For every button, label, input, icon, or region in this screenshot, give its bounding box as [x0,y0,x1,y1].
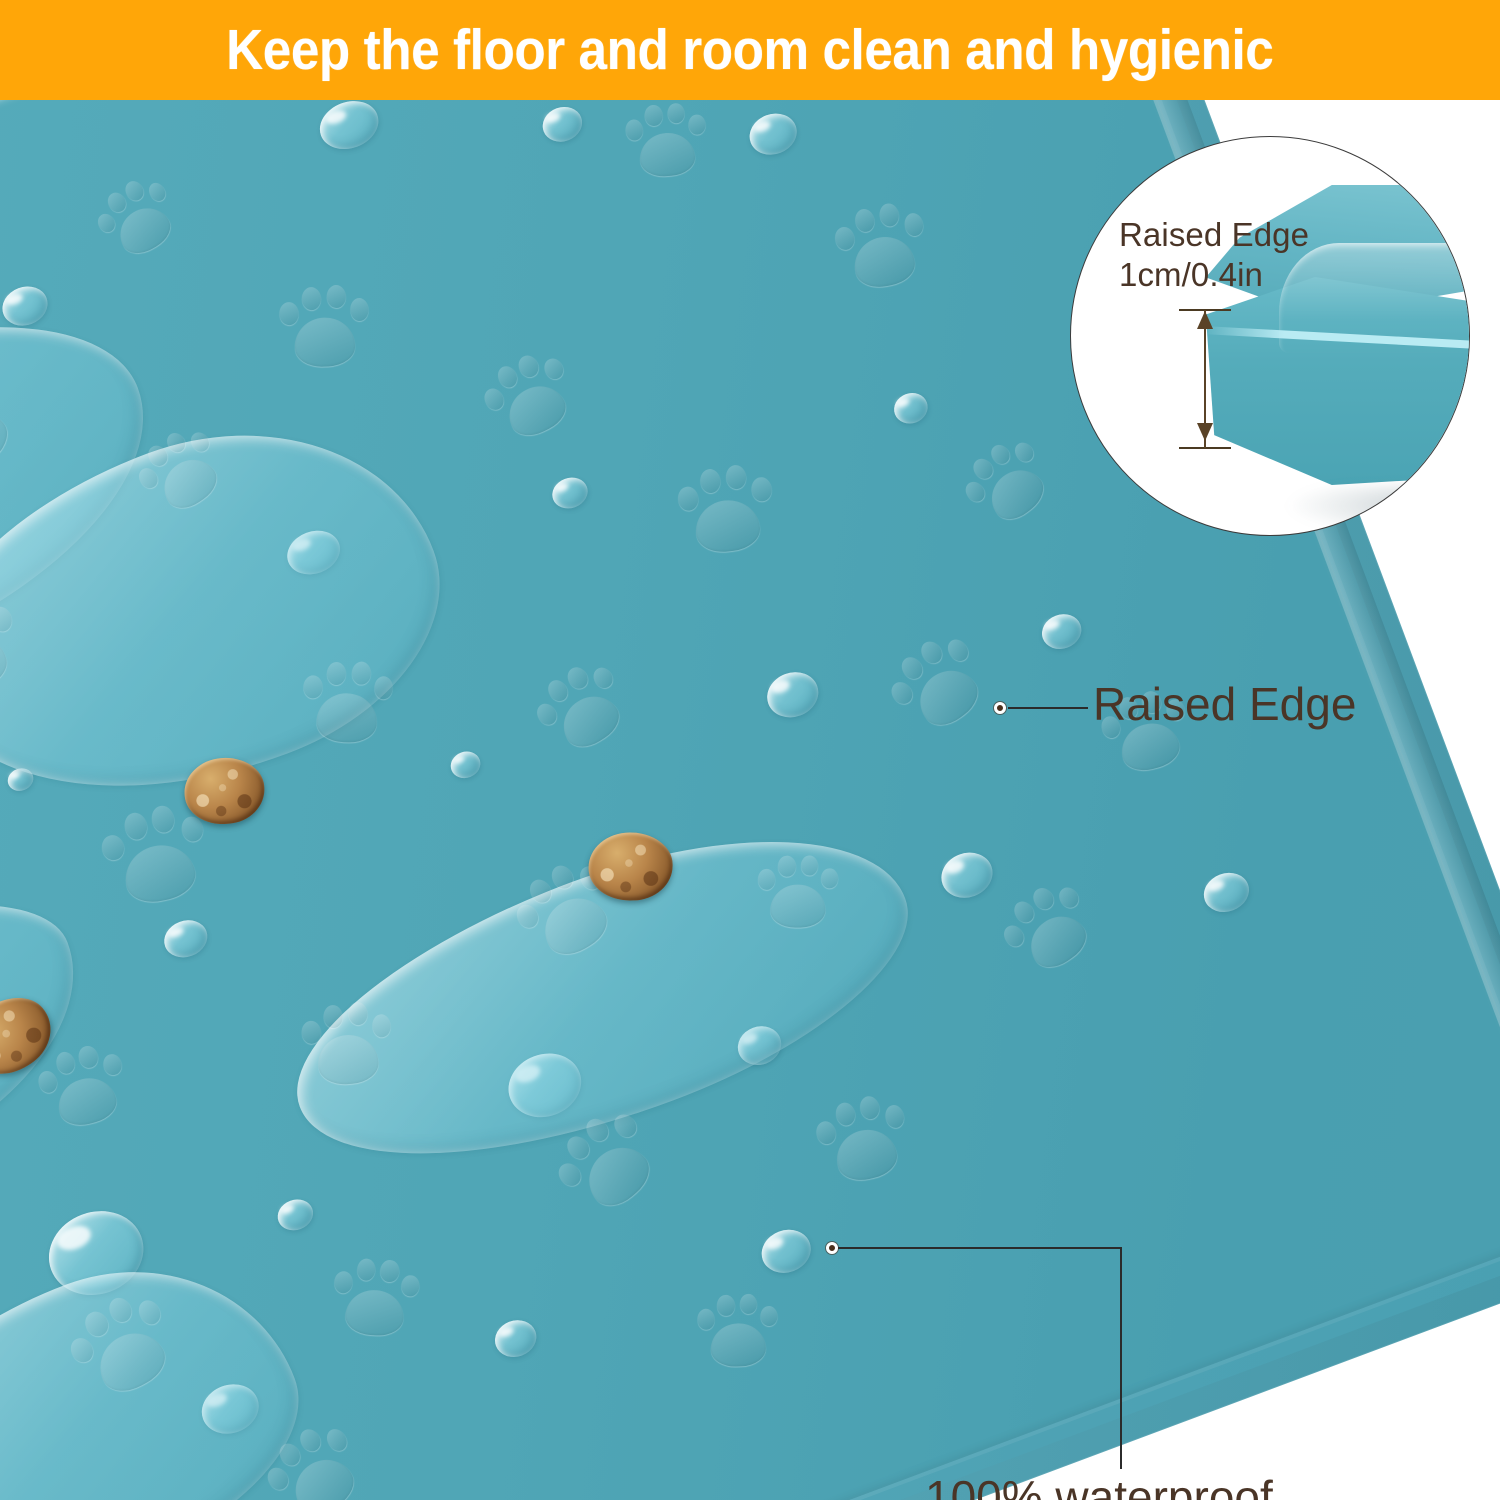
arrowhead-up-icon [1197,311,1213,329]
paw-print-emboss [56,1280,190,1411]
water-droplet [548,473,592,514]
paw-print-emboss [523,650,641,766]
water-droplet [935,845,999,904]
water-droplet [1037,609,1086,655]
paw-print-emboss [756,853,839,931]
corner-drop-shadow [1284,485,1470,536]
water-droplet [313,100,385,157]
callout-label-raised-edge: Raised Edge [1093,677,1356,731]
arrowhead-down-icon [1197,423,1213,441]
paw-print-emboss [951,427,1064,539]
paw-print-emboss [989,870,1107,987]
paw-print-emboss [694,1291,780,1372]
dimension-arrow [1175,304,1235,454]
callout-leader-waterproof-vertical [1120,1247,1122,1469]
callout-leader-waterproof-horizontal [838,1247,1122,1249]
paw-print-emboss [0,587,29,705]
paw-print-emboss [809,1087,917,1191]
callout-dot-waterproof [826,1242,838,1254]
paw-print-emboss [876,622,1001,746]
paw-print-emboss [472,341,587,453]
banner-headline: Keep the floor and room clean and hygien… [226,17,1273,83]
paw-print-emboss [0,365,30,491]
callout-dot-raised-edge [994,702,1006,714]
paw-print-emboss [828,196,934,297]
paw-print-emboss [329,1255,421,1342]
water-droplet [159,914,213,963]
callout-label-waterproof: 100% waterproof [925,1470,1273,1500]
paw-print-emboss [30,1037,135,1138]
water-droplet [732,1020,787,1071]
water-droplet [195,1376,266,1441]
paw-print-emboss [673,459,779,560]
water-droplet [755,1223,817,1280]
callout-leader-raised-edge [1008,707,1088,709]
paw-print-emboss [622,100,711,183]
paw-print-emboss [125,416,237,527]
water-droplet [499,1043,590,1127]
water-droplet [744,107,803,161]
product-photo-stage: Raised Edge 1cm/0.4in Raised Edge 100% w… [0,100,1500,1500]
water-droplet [890,388,932,428]
water-droplet [1198,867,1254,919]
paw-print-emboss [541,1097,673,1228]
paw-print-emboss [298,998,396,1091]
paw-print-emboss [85,167,189,270]
kibble-piece [588,832,673,901]
water-droplet [281,523,346,581]
raised-edge-inset-circle: Raised Edge 1cm/0.4in [1070,136,1470,536]
water-droplet [447,747,484,782]
inset-dimension-label: Raised Edge 1cm/0.4in [1119,215,1309,296]
header-banner: Keep the floor and room clean and hygien… [0,0,1500,100]
water-droplet [0,280,53,332]
paw-print-emboss [300,658,394,746]
water-droplet [538,101,587,147]
water-droplet [761,665,825,724]
water-droplet [490,1314,542,1362]
paw-print-emboss [253,1411,377,1500]
water-droplet [273,1195,317,1236]
water-droplet [5,765,37,795]
paw-print-emboss [276,282,372,372]
